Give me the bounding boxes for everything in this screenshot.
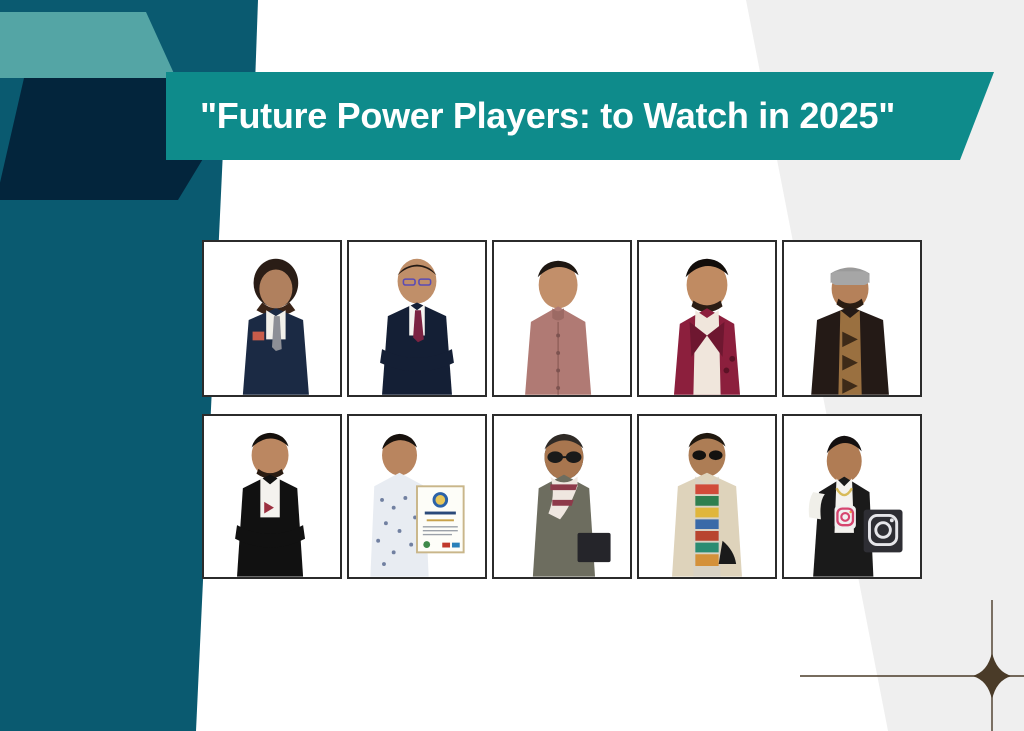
portrait-1	[204, 242, 340, 395]
poster-canvas: "Future Power Players: to Watch in 2025"	[0, 0, 1024, 731]
photo-frame-7[interactable]	[347, 414, 487, 579]
portrait-3	[494, 242, 630, 395]
light-teal-parallelogram	[0, 12, 176, 78]
photo-frame-6[interactable]	[202, 414, 342, 579]
photo-frame-1[interactable]	[202, 240, 342, 397]
navy-tall-blade	[0, 78, 176, 200]
photo-grid	[202, 240, 922, 580]
portrait-5	[784, 242, 920, 395]
portrait-8	[494, 416, 630, 577]
navy-blade	[24, 78, 172, 200]
title-banner: "Future Power Players: to Watch in 2025"	[166, 72, 994, 160]
navy-slab	[24, 78, 180, 200]
four-point-star-ornament	[800, 600, 1024, 731]
portrait-6	[204, 416, 340, 577]
dark-teal-shape-left	[0, 0, 78, 731]
light-teal-top-band	[0, 12, 176, 78]
photo-frame-10[interactable]	[782, 414, 922, 579]
ornament-star	[972, 652, 1012, 700]
navy-sweep	[24, 78, 182, 596]
portrait-2	[349, 242, 485, 395]
navy-body	[0, 78, 178, 200]
navy-body-tall	[0, 78, 178, 200]
navy-diagonal-body	[22, 78, 178, 198]
light-teal-parallelogram-wide	[0, 12, 176, 78]
photo-frame-2[interactable]	[347, 240, 487, 397]
photo-frame-4[interactable]	[637, 240, 777, 397]
photo-frame-5[interactable]	[782, 240, 922, 397]
navy-slab-extend	[24, 78, 180, 196]
portrait-7	[349, 416, 485, 577]
photo-frame-3[interactable]	[492, 240, 632, 397]
navy-blade-final	[0, 78, 178, 200]
photo-frame-9[interactable]	[637, 414, 777, 579]
photo-frame-8[interactable]	[492, 414, 632, 579]
page-title: "Future Power Players: to Watch in 2025"	[200, 98, 895, 134]
portrait-9	[639, 416, 775, 577]
portrait-4	[639, 242, 775, 395]
navy-long-blade	[20, 78, 176, 200]
teal-body-left	[0, 0, 86, 731]
portrait-10	[784, 416, 920, 577]
